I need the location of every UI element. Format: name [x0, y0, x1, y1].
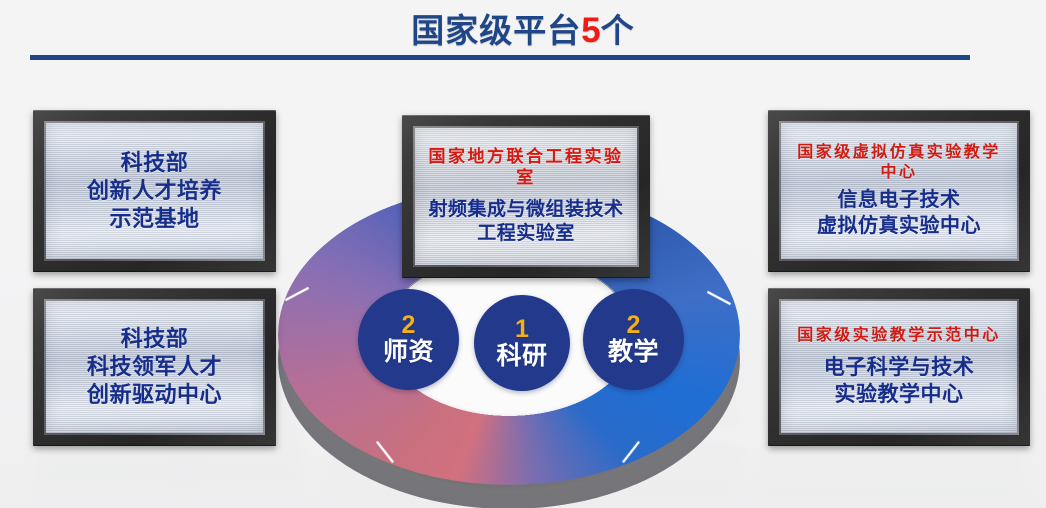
title-divider-rule: [30, 55, 970, 60]
plaque-bevel: 国家级虚拟仿真实验教学中心 信息电子技术 虚拟仿真实验中心: [779, 121, 1019, 261]
plaque-top-left[interactable]: 科技部 创新人才培养 示范基地: [33, 110, 276, 272]
plaque-top-right[interactable]: 国家级虚拟仿真实验教学中心 信息电子技术 虚拟仿真实验中心: [768, 110, 1030, 272]
metric-circle-research[interactable]: 1 科研: [474, 295, 570, 391]
plaque-bottom-right[interactable]: 国家级实验教学示范中心 电子科学与技术 实验教学中心: [768, 288, 1030, 446]
plaque-bevel: 科技部 科技领军人才 创新驱动中心: [44, 299, 265, 435]
metric-circle-number: 1: [515, 317, 529, 342]
plaque-line-1: 电子科学与技术: [824, 355, 975, 381]
metric-circle-label: 教学: [608, 338, 659, 366]
plaque-red-title: 国家地方联合工程实验室: [423, 147, 629, 188]
plaque-red-title: 国家级实验教学示范中心: [797, 326, 1001, 346]
metric-circle-number: 2: [627, 313, 641, 338]
page-title-count: 5: [581, 11, 600, 50]
plaque-face: 国家级虚拟仿真实验教学中心 信息电子技术 虚拟仿真实验中心: [781, 123, 1017, 259]
plaque-face: 国家地方联合工程实验室 射频集成与微组装技术 工程实验室: [415, 128, 637, 265]
plaque-line-1: 科技部: [121, 325, 189, 353]
plaque-line-2: 科技领军人才: [87, 353, 222, 381]
plaque-bevel: 国家地方联合工程实验室 射频集成与微组装技术 工程实验室: [413, 126, 639, 267]
plaque-face: 科技部 创新人才培养 示范基地: [46, 123, 263, 259]
metric-circle-label: 科研: [496, 342, 547, 370]
plaque-line-1: 信息电子技术: [838, 188, 961, 213]
plaque-face: 科技部 科技领军人才 创新驱动中心: [46, 301, 263, 433]
plaque-bevel: 国家级实验教学示范中心 电子科学与技术 实验教学中心: [779, 299, 1019, 435]
plaque-line-1: 射频集成与微组装技术: [428, 198, 623, 222]
plaque-red-title: 国家级虚拟仿真实验教学中心: [789, 143, 1009, 182]
plaque-line-3: 示范基地: [109, 205, 199, 233]
metric-circle-number: 2: [402, 313, 416, 338]
plaque-line-2: 虚拟仿真实验中心: [817, 214, 981, 239]
plaque-line-2: 实验教学中心: [835, 382, 964, 408]
metric-circle-teaching[interactable]: 2 教学: [583, 289, 684, 390]
plaque-line-1: 科技部: [121, 149, 189, 177]
metric-circle-label: 师资: [383, 338, 434, 366]
plaque-line-2: 工程实验室: [477, 222, 575, 246]
plaque-top-center[interactable]: 国家地方联合工程实验室 射频集成与微组装技术 工程实验室: [402, 115, 650, 278]
page-title-unit: 个: [601, 12, 635, 49]
page-title: 国家级平台5个: [0, 4, 1046, 52]
page-title-main: 国家级平台: [411, 12, 581, 49]
plaque-line-2: 创新人才培养: [87, 177, 222, 205]
plaque-face: 国家级实验教学示范中心 电子科学与技术 实验教学中心: [781, 301, 1017, 433]
plaque-bottom-left[interactable]: 科技部 科技领军人才 创新驱动中心: [33, 288, 276, 446]
metric-circle-teachers[interactable]: 2 师资: [358, 289, 459, 390]
plaque-line-3: 创新驱动中心: [87, 381, 222, 409]
plaque-bevel: 科技部 创新人才培养 示范基地: [44, 121, 265, 261]
